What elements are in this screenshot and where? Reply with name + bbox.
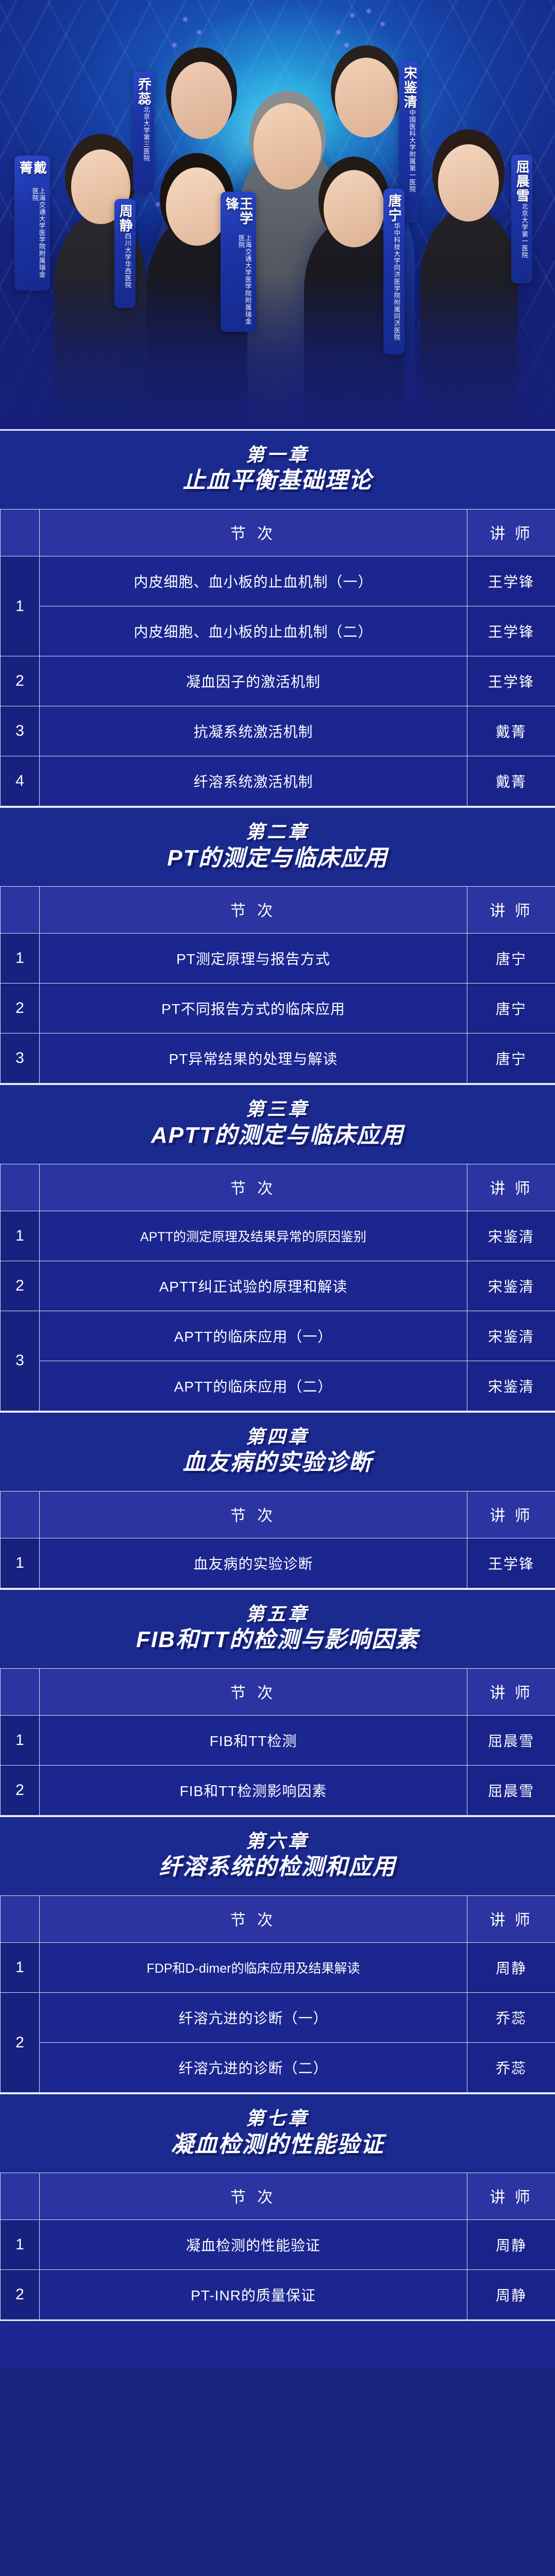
lesson-number: 3: [1, 1033, 40, 1083]
expert-head-tangning: [324, 170, 384, 247]
chapter-title: 血友病的实验诊断: [5, 1449, 550, 1477]
lesson-row[interactable]: 1FDP和D-dimer的临床应用及结果解读周静: [1, 1943, 555, 1993]
header-number: [1, 1668, 40, 1715]
lesson-title[interactable]: 内皮细胞、血小板的止血机制（一）: [40, 556, 467, 606]
lesson-number: 1: [1, 556, 40, 656]
lesson-teacher: 周静: [467, 1943, 555, 1993]
lesson-teacher: 王学锋: [467, 1538, 555, 1588]
header-teacher: 讲 师: [467, 887, 555, 934]
lesson-number: 1: [1, 1943, 40, 1993]
lesson-row[interactable]: 2PT-INR的质量保证周静: [1, 2270, 555, 2320]
lesson-title[interactable]: 纤溶亢进的诊断（一）: [40, 1993, 467, 2043]
chapter-number: 第四章: [5, 1426, 550, 1447]
lesson-table-header-row: 节 次讲 师: [1, 1164, 555, 1211]
chapter-title: 纤溶系统的检测和应用: [5, 1854, 550, 1881]
lesson-row[interactable]: 纤溶亢进的诊断（二）乔蕊: [1, 2043, 555, 2093]
lesson-title[interactable]: APTT纠正试验的原理和解读: [40, 1261, 467, 1311]
lesson-table-header-row: 节 次讲 师: [1, 1896, 555, 1943]
expert-name: 宋鉴清: [402, 66, 416, 109]
expert-plaque-qiaorui: 乔蕊 北京大学第三医院: [133, 72, 154, 192]
lesson-row[interactable]: 2纤溶亢进的诊断（一）乔蕊: [1, 1993, 555, 2043]
header-number: [1, 1164, 40, 1211]
expert-plaque-wangxuefeng: 王学锋 上海交通大学医学院附属瑞金医院: [221, 192, 256, 332]
header-section: 节 次: [40, 510, 467, 556]
chapter-title: 凝血检测的性能验证: [5, 2131, 550, 2159]
chapter-number: 第七章: [5, 2108, 550, 2129]
header-section: 节 次: [40, 887, 467, 934]
lesson-teacher: 乔蕊: [467, 1993, 555, 2043]
expert-plaque-daijing: 戴菁 上海交通大学医学院附属瑞金医院: [14, 156, 50, 291]
lesson-row[interactable]: 1PT测定原理与报告方式唐宁: [1, 934, 555, 984]
lesson-row[interactable]: 4纤溶系统激活机制戴菁: [1, 756, 555, 806]
chapter-number: 第五章: [5, 1603, 550, 1624]
lesson-number: 4: [1, 756, 40, 806]
expert-affiliation: 华中科技大学同济医学院附属同济医院: [393, 223, 399, 341]
lesson-table: 节 次讲 师1凝血检测的性能验证周静2PT-INR的质量保证周静: [0, 2173, 555, 2320]
expert-name: 乔蕊: [137, 77, 150, 106]
lesson-row[interactable]: 2凝血因子的激活机制王学锋: [1, 656, 555, 706]
header-teacher: 讲 师: [467, 2173, 555, 2220]
lesson-teacher: 宋鉴清: [467, 1261, 555, 1311]
lesson-teacher: 宋鉴清: [467, 1361, 555, 1411]
chapter-6: 第六章纤溶系统的检测和应用节 次讲 师1FDP和D-dimer的临床应用及结果解…: [0, 1816, 555, 2093]
expert-affiliation: 上海交通大学医学院附属瑞金医院: [237, 234, 250, 326]
chapter-number: 第一章: [5, 444, 550, 465]
header-teacher: 讲 师: [467, 1896, 555, 1943]
expert-name: 王学锋: [224, 197, 253, 234]
lesson-title[interactable]: 抗凝系统激活机制: [40, 706, 467, 756]
chapter-heading: 第四章血友病的实验诊断: [0, 1411, 555, 1491]
header-section: 节 次: [40, 1668, 467, 1715]
lesson-teacher: 王学锋: [467, 556, 555, 606]
header-number: [1, 2173, 40, 2220]
lesson-title[interactable]: APTT的临床应用（二）: [40, 1361, 467, 1411]
header-section: 节 次: [40, 2173, 467, 2220]
lesson-title[interactable]: PT-INR的质量保证: [40, 2270, 467, 2320]
lesson-title[interactable]: PT不同报告方式的临床应用: [40, 984, 467, 1033]
chapter-title: 止血平衡基础理论: [5, 467, 550, 495]
lesson-number: 1: [1, 1211, 40, 1261]
chapter-number: 第二章: [5, 821, 550, 842]
chapter-5: 第五章FIB和TT的检测与影响因素节 次讲 师1FIB和TT检测屈晨雪2FIB和…: [0, 1588, 555, 1816]
lesson-title[interactable]: FIB和TT检测影响因素: [40, 1765, 467, 1815]
hero-banner: 戴菁 上海交通大学医学院附属瑞金医院 周静 四川大学华西医院 乔蕊 北京大学第三…: [0, 0, 555, 429]
chapter-title: FIB和TT的检测与影响因素: [5, 1626, 550, 1654]
lesson-number: 3: [1, 1311, 40, 1411]
header-section: 节 次: [40, 1164, 467, 1211]
lesson-number: 2: [1, 984, 40, 1033]
header-teacher: 讲 师: [467, 1491, 555, 1538]
lesson-row[interactable]: 3APTT的临床应用（一）宋鉴清: [1, 1311, 555, 1361]
expert-plaque-tangning: 唐宁 华中科技大学同济医学院附属同济医院: [383, 189, 405, 354]
chapter-4: 第四章血友病的实验诊断节 次讲 师1血友病的实验诊断王学锋: [0, 1411, 555, 1588]
chapter-7: 第七章凝血检测的性能验证节 次讲 师1凝血检测的性能验证周静2PT-INR的质量…: [0, 2093, 555, 2320]
lesson-teacher: 唐宁: [467, 934, 555, 984]
lesson-number: 2: [1, 2270, 40, 2320]
lesson-title[interactable]: PT测定原理与报告方式: [40, 934, 467, 984]
header-number: [1, 1896, 40, 1943]
chapter-number: 第六章: [5, 1831, 550, 1852]
expert-head-quchenxue: [438, 144, 499, 222]
lesson-title[interactable]: 凝血检测的性能验证: [40, 2220, 467, 2270]
expert-affiliation: 上海交通大学医学院附属瑞金医院: [31, 188, 44, 284]
lesson-table: 节 次讲 师1血友病的实验诊断王学锋: [0, 1491, 555, 1588]
lesson-number: 2: [1, 1993, 40, 2093]
lesson-table: 节 次讲 师1内皮细胞、血小板的止血机制（一）王学锋内皮细胞、血小板的止血机制（…: [0, 509, 555, 806]
lesson-teacher: 周静: [467, 2220, 555, 2270]
lesson-table-header-row: 节 次讲 师: [1, 1491, 555, 1538]
header-number: [1, 1491, 40, 1538]
lesson-number: 1: [1, 1715, 40, 1765]
lesson-teacher: 周静: [467, 2270, 555, 2320]
expert-name: 屈晨雪: [515, 160, 529, 203]
lesson-teacher: 屈晨雪: [467, 1715, 555, 1765]
lesson-row[interactable]: 1APTT的测定原理及结果异常的原因鉴别宋鉴清: [1, 1211, 555, 1261]
lesson-title[interactable]: 凝血因子的激活机制: [40, 656, 467, 706]
header-teacher: 讲 师: [467, 510, 555, 556]
lesson-number: 1: [1, 1538, 40, 1588]
lesson-number: 1: [1, 2220, 40, 2270]
lesson-row[interactable]: APTT的临床应用（二）宋鉴清: [1, 1361, 555, 1411]
lesson-row[interactable]: 2APTT纠正试验的原理和解读宋鉴清: [1, 1261, 555, 1311]
lesson-title[interactable]: 纤溶系统激活机制: [40, 756, 467, 806]
lesson-table-header-row: 节 次讲 师: [1, 2173, 555, 2220]
lesson-table-header-row: 节 次讲 师: [1, 510, 555, 556]
lesson-row[interactable]: 2FIB和TT检测影响因素屈晨雪: [1, 1765, 555, 1815]
header-number: [1, 510, 40, 556]
expert-head-qiaorui: [171, 62, 232, 139]
hero-bottom-fade: [0, 275, 555, 429]
lesson-teacher: 乔蕊: [467, 2043, 555, 2093]
lesson-teacher: 唐宁: [467, 984, 555, 1033]
lesson-number: 1: [1, 934, 40, 984]
lesson-title[interactable]: APTT的临床应用（一）: [40, 1311, 467, 1361]
lesson-row[interactable]: 2PT不同报告方式的临床应用唐宁: [1, 984, 555, 1033]
chapter-list: 第一章止血平衡基础理论节 次讲 师1内皮细胞、血小板的止血机制（一）王学锋内皮细…: [0, 429, 555, 2320]
expert-name: 周静: [118, 204, 132, 233]
expert-plaque-zhoujing: 周静 四川大学华西医院: [114, 199, 136, 308]
lesson-number: 3: [1, 706, 40, 756]
lesson-row[interactable]: 1内皮细胞、血小板的止血机制（一）王学锋: [1, 556, 555, 606]
lesson-table: 节 次讲 师1FDP和D-dimer的临床应用及结果解读周静2纤溶亢进的诊断（一…: [0, 1895, 555, 2093]
chapter-2: 第二章PT的测定与临床应用节 次讲 师1PT测定原理与报告方式唐宁2PT不同报告…: [0, 806, 555, 1083]
chapter-heading: 第五章FIB和TT的检测与影响因素: [0, 1588, 555, 1668]
header-number: [1, 887, 40, 934]
header-section: 节 次: [40, 1896, 467, 1943]
lesson-teacher: 戴菁: [467, 706, 555, 756]
page-footer-spacer: [0, 2320, 555, 2367]
lesson-title[interactable]: 内皮细胞、血小板的止血机制（二）: [40, 606, 467, 656]
expert-head-songjianqing: [335, 58, 398, 138]
lesson-teacher: 戴菁: [467, 756, 555, 806]
lesson-title[interactable]: FDP和D-dimer的临床应用及结果解读: [40, 1943, 467, 1993]
expert-name: 戴菁: [18, 161, 46, 188]
lesson-teacher: 宋鉴清: [467, 1311, 555, 1361]
chapter-heading: 第一章止血平衡基础理论: [0, 429, 555, 509]
expert-affiliation: 北京大学第一医院: [520, 203, 527, 259]
lesson-number: 2: [1, 1765, 40, 1815]
chapter-title: APTT的测定与临床应用: [5, 1122, 550, 1149]
course-outline-page: 戴菁 上海交通大学医学院附属瑞金医院 周静 四川大学华西医院 乔蕊 北京大学第三…: [0, 0, 555, 2576]
chapter-heading: 第六章纤溶系统的检测和应用: [0, 1816, 555, 1895]
chapter-heading: 第二章PT的测定与临床应用: [0, 806, 555, 886]
lesson-teacher: 屈晨雪: [467, 1765, 555, 1815]
lesson-row[interactable]: 3抗凝系统激活机制戴菁: [1, 706, 555, 756]
chapter-3: 第三章APTT的测定与临床应用节 次讲 师1APTT的测定原理及结果异常的原因鉴…: [0, 1083, 555, 1411]
header-teacher: 讲 师: [467, 1164, 555, 1211]
lesson-title[interactable]: PT异常结果的处理与解读: [40, 1033, 467, 1083]
chapter-heading: 第三章APTT的测定与临床应用: [0, 1083, 555, 1163]
expert-affiliation: 四川大学华西医院: [124, 233, 130, 289]
expert-affiliation: 中国医科大学附属第一医院: [408, 109, 415, 193]
chapter-number: 第三章: [5, 1098, 550, 1120]
lesson-title[interactable]: APTT的测定原理及结果异常的原因鉴别: [40, 1211, 467, 1261]
lesson-table: 节 次讲 师1PT测定原理与报告方式唐宁2PT不同报告方式的临床应用唐宁3PT异…: [0, 886, 555, 1083]
chapter-heading: 第七章凝血检测的性能验证: [0, 2093, 555, 2173]
lesson-row[interactable]: 1FIB和TT检测屈晨雪: [1, 1715, 555, 1765]
lesson-teacher: 王学锋: [467, 656, 555, 706]
lesson-row[interactable]: 1血友病的实验诊断王学锋: [1, 1538, 555, 1588]
expert-head-wangxuefeng: [254, 103, 322, 190]
lesson-table: 节 次讲 师1APTT的测定原理及结果异常的原因鉴别宋鉴清2APTT纠正试验的原…: [0, 1164, 555, 1411]
lesson-title[interactable]: FIB和TT检测: [40, 1715, 467, 1765]
lesson-title[interactable]: 纤溶亢进的诊断（二）: [40, 2043, 467, 2093]
lesson-number: 2: [1, 1261, 40, 1311]
lesson-row[interactable]: 3PT异常结果的处理与解读唐宁: [1, 1033, 555, 1083]
chapter-title: PT的测定与临床应用: [5, 845, 550, 872]
lesson-table-header-row: 节 次讲 师: [1, 887, 555, 934]
lesson-row[interactable]: 1凝血检测的性能验证周静: [1, 2220, 555, 2270]
lesson-title[interactable]: 血友病的实验诊断: [40, 1538, 467, 1588]
header-section: 节 次: [40, 1491, 467, 1538]
expert-name: 唐宁: [387, 194, 401, 223]
lesson-row[interactable]: 内皮细胞、血小板的止血机制（二）王学锋: [1, 606, 555, 656]
expert-affiliation: 北京大学第三医院: [142, 106, 149, 162]
lesson-teacher: 王学锋: [467, 606, 555, 656]
chapter-1: 第一章止血平衡基础理论节 次讲 师1内皮细胞、血小板的止血机制（一）王学锋内皮细…: [0, 429, 555, 806]
lesson-number: 2: [1, 656, 40, 706]
lesson-table: 节 次讲 师1FIB和TT检测屈晨雪2FIB和TT检测影响因素屈晨雪: [0, 1668, 555, 1816]
lesson-teacher: 唐宁: [467, 1033, 555, 1083]
lesson-teacher: 宋鉴清: [467, 1211, 555, 1261]
expert-head-zhoujing: [166, 167, 228, 246]
expert-plaque-quchenxue: 屈晨雪 北京大学第一医院: [511, 155, 532, 283]
lesson-table-header-row: 节 次讲 师: [1, 1668, 555, 1715]
header-teacher: 讲 师: [467, 1668, 555, 1715]
